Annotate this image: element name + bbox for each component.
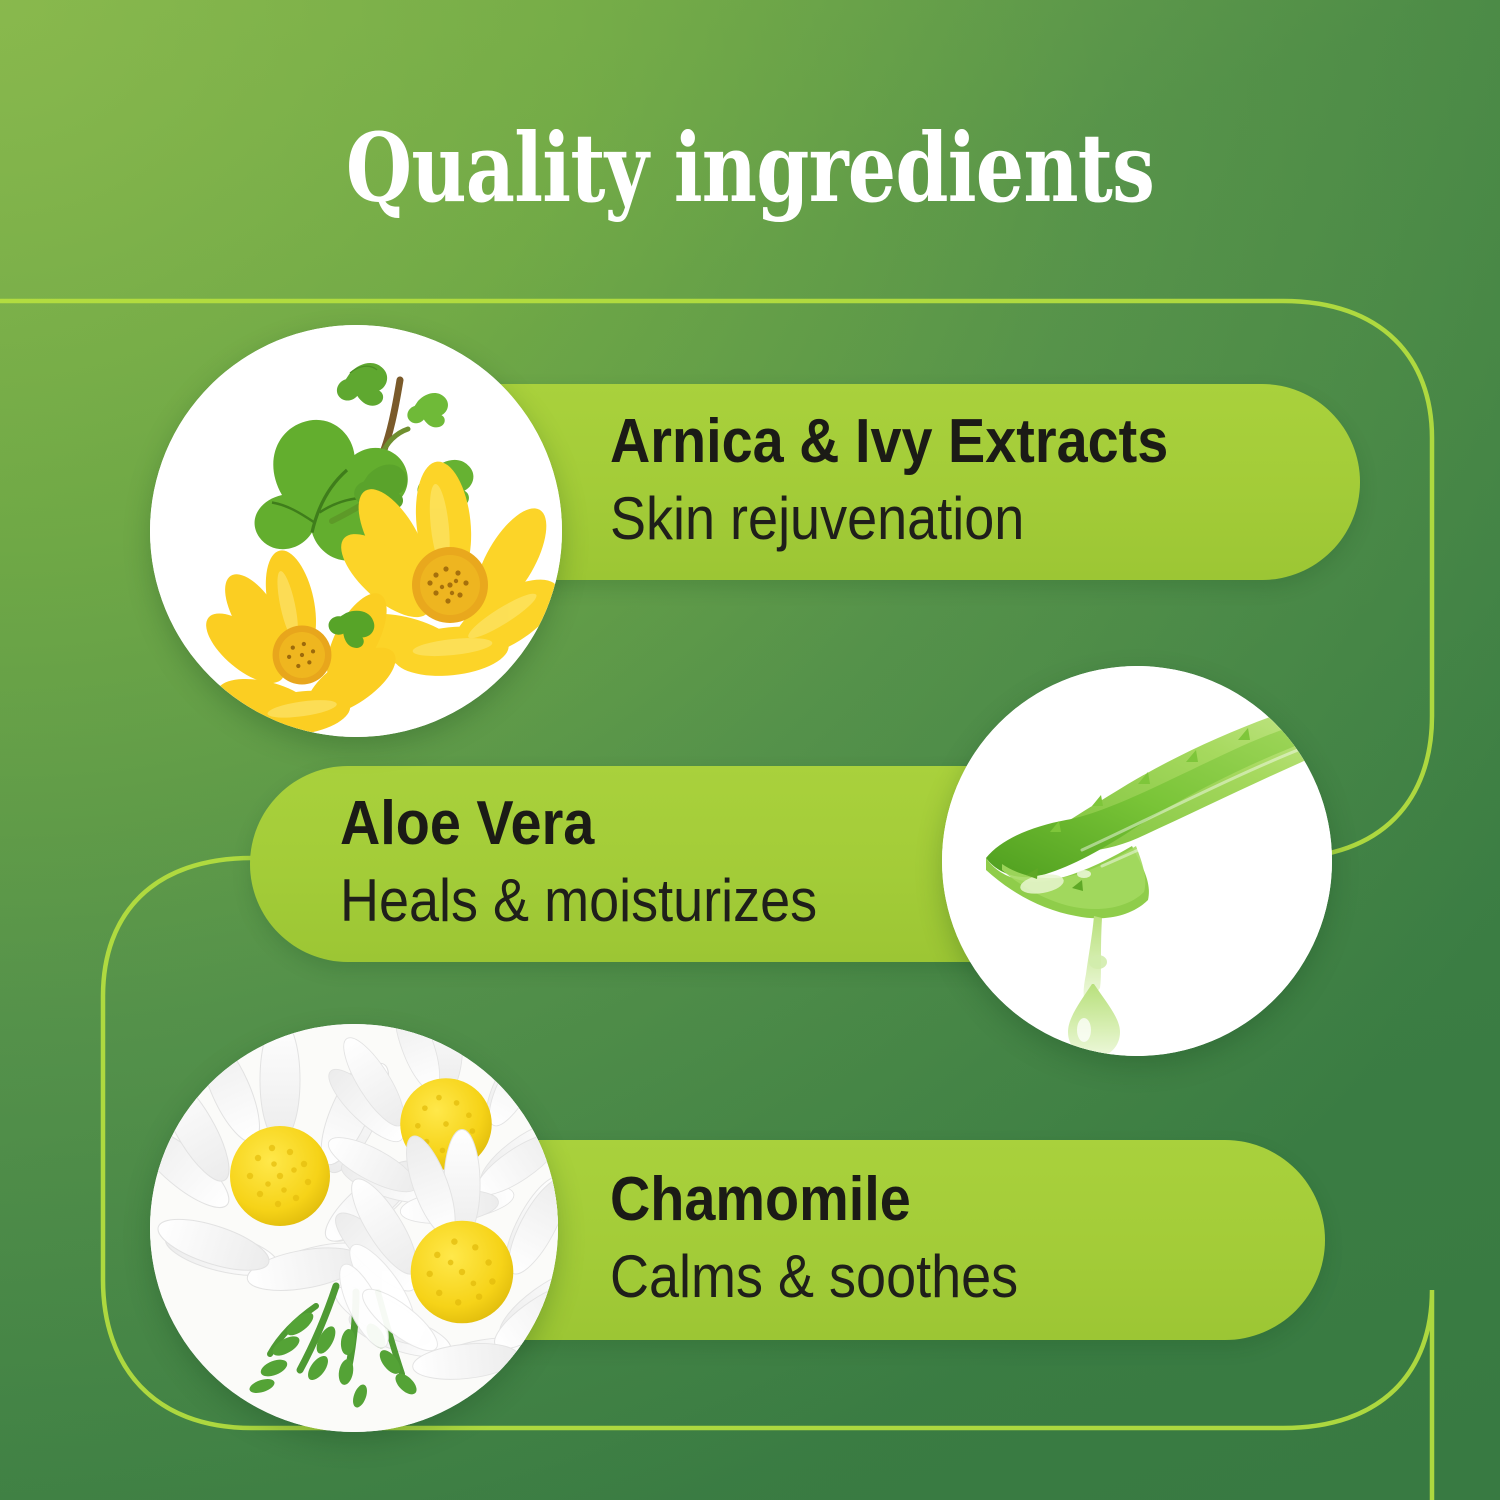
page-title: Quality ingredients: [150, 118, 1350, 221]
ingredient-benefit: Calms & soothes: [610, 1243, 1254, 1310]
ingredient-image-arnica-ivy: [150, 325, 562, 737]
ingredient-name: Chamomile: [610, 1169, 1254, 1231]
ingredient-name: Arnica & Ivy Extracts: [610, 411, 1285, 473]
ingredients-infographic: Quality ingredients Arnica & Ivy Extract…: [0, 0, 1500, 1500]
ingredient-image-chamomile: [150, 1024, 558, 1432]
ingredient-benefit: Skin rejuvenation: [610, 485, 1285, 552]
ingredient-image-aloe-vera: [942, 666, 1332, 1056]
